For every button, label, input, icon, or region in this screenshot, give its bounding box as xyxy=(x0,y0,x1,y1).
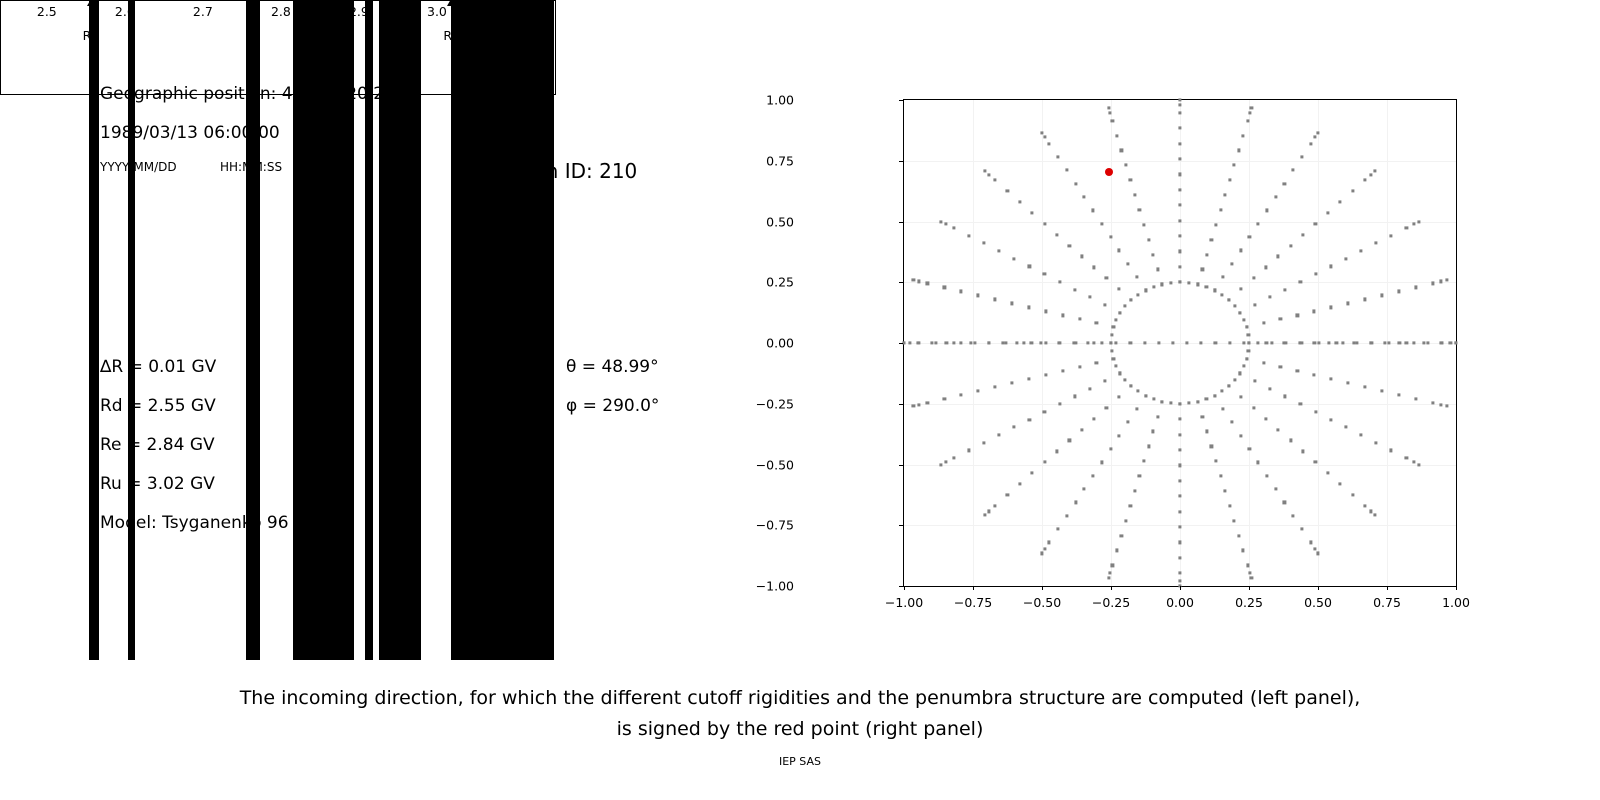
penumbra-tick-label: 2.6 xyxy=(115,4,135,19)
direction-point xyxy=(960,393,963,396)
direction-point xyxy=(1205,430,1208,433)
direction-point xyxy=(917,280,920,283)
direction-point xyxy=(1001,341,1004,344)
direction-point xyxy=(1222,407,1225,410)
direction-point xyxy=(1264,417,1267,420)
direction-point xyxy=(1178,98,1181,101)
direction-point xyxy=(967,234,970,237)
direction-point xyxy=(1055,233,1058,236)
direction-point xyxy=(1445,279,1448,282)
direction-point xyxy=(1178,142,1181,145)
direction-point xyxy=(1228,504,1231,507)
direction-point xyxy=(1414,397,1417,400)
direction-point xyxy=(952,341,955,344)
direction-point xyxy=(1363,298,1366,301)
direction-point xyxy=(1152,398,1155,401)
direction-point xyxy=(1344,426,1347,429)
direction-point xyxy=(997,433,1000,436)
direction-point xyxy=(1111,119,1114,122)
direction-point xyxy=(1327,341,1330,344)
y-tick-label: −0.25 xyxy=(756,396,794,411)
direction-point xyxy=(1205,398,1208,401)
direction-point xyxy=(1329,265,1332,268)
direction-point xyxy=(977,294,980,297)
direction-point xyxy=(1330,306,1333,309)
direction-point xyxy=(926,401,929,404)
y-tick-mark xyxy=(899,465,903,466)
parameter-line: Re = 2.84 GV xyxy=(100,435,215,455)
direction-point xyxy=(1126,421,1129,424)
direction-point xyxy=(1335,341,1338,344)
direction-point xyxy=(1178,204,1181,207)
direction-point xyxy=(1105,277,1108,280)
direction-point xyxy=(1135,407,1138,410)
direction-point xyxy=(912,279,915,282)
parameter-line: Rd = 2.55 GV xyxy=(100,396,216,416)
direction-point xyxy=(1210,238,1213,241)
direction-point xyxy=(1039,341,1042,344)
direction-point xyxy=(1126,262,1129,265)
direction-point xyxy=(1115,134,1118,137)
direction-point xyxy=(1405,457,1408,460)
direction-point xyxy=(1237,149,1240,152)
penumbra-tick-label: 2.8 xyxy=(271,4,291,19)
direction-point xyxy=(1107,107,1110,110)
direction-point xyxy=(1431,401,1434,404)
direction-point xyxy=(1010,302,1013,305)
direction-point xyxy=(1397,290,1400,293)
direction-point xyxy=(1185,341,1188,344)
caption-line-1: The incoming direction, for which the di… xyxy=(0,683,1600,714)
direction-point xyxy=(1058,341,1061,344)
direction-point xyxy=(1380,389,1383,392)
direction-point xyxy=(1030,341,1033,344)
direction-point xyxy=(1013,257,1016,260)
direction-point xyxy=(1220,390,1223,393)
direction-point xyxy=(1178,402,1181,405)
direction-point xyxy=(1103,303,1106,306)
direction-point xyxy=(1341,341,1344,344)
direction-point xyxy=(1124,304,1127,307)
direction-point xyxy=(1088,296,1091,299)
direction-point xyxy=(1292,514,1295,517)
direction-point xyxy=(1124,519,1127,522)
direction-point xyxy=(1283,501,1286,504)
direction-point xyxy=(1156,415,1159,418)
direction-point xyxy=(1301,233,1304,236)
direction-point xyxy=(917,403,920,406)
direction-point xyxy=(1268,296,1271,299)
direction-point xyxy=(1426,341,1429,344)
direction-point xyxy=(1413,460,1416,463)
direction-point xyxy=(1210,445,1213,448)
direction-point xyxy=(1237,534,1240,537)
direction-point xyxy=(1178,525,1181,528)
direction-point xyxy=(993,298,996,301)
direction-point xyxy=(1250,107,1253,110)
direction-point xyxy=(1043,548,1046,551)
direction-point xyxy=(1326,472,1329,475)
direction-point xyxy=(1105,406,1108,409)
direction-point xyxy=(1289,439,1292,442)
direction-point xyxy=(1454,341,1457,344)
angle-line: θ = 48.99° xyxy=(566,357,659,377)
x-tick-mark xyxy=(1042,586,1043,590)
direction-point xyxy=(934,341,937,344)
direction-point xyxy=(1065,169,1068,172)
x-tick-label: −0.25 xyxy=(1092,595,1130,610)
penumbra-tick-label: 2.5 xyxy=(37,4,57,19)
direction-point xyxy=(1292,169,1295,172)
penumbra-tick-label: 3.0 xyxy=(427,4,447,19)
direction-point xyxy=(1178,250,1181,253)
direction-point xyxy=(1253,379,1256,382)
x-tick-mark xyxy=(1249,586,1250,590)
direction-point xyxy=(1031,211,1034,214)
direction-point xyxy=(1074,501,1077,504)
direction-point xyxy=(1178,103,1181,106)
direction-point xyxy=(1242,341,1245,344)
direction-point xyxy=(1279,318,1282,321)
y-tick-label: −0.75 xyxy=(756,518,794,533)
direction-point xyxy=(1230,421,1233,424)
direction-point xyxy=(1245,357,1248,360)
x-tick-label: −0.50 xyxy=(1023,595,1061,610)
direction-point xyxy=(1178,157,1181,160)
direction-point xyxy=(1107,576,1110,579)
direction-point xyxy=(1111,564,1114,567)
direction-point xyxy=(1028,265,1031,268)
direction-point xyxy=(931,341,934,344)
direction-point xyxy=(1279,365,1282,368)
direction-point xyxy=(1178,111,1181,114)
direction-point xyxy=(1359,433,1362,436)
direction-point xyxy=(1129,504,1132,507)
direction-point xyxy=(1233,378,1236,381)
arrow-up-icon xyxy=(447,0,455,6)
direction-point xyxy=(1169,402,1172,405)
direction-point xyxy=(1289,244,1292,247)
direction-point xyxy=(1228,179,1231,182)
direction-point xyxy=(945,341,948,344)
direction-point xyxy=(1044,373,1047,376)
direction-point xyxy=(1277,255,1280,258)
direction-point xyxy=(1043,461,1046,464)
direction-point xyxy=(1161,400,1164,403)
direction-point xyxy=(1043,135,1046,138)
direction-point xyxy=(1326,211,1329,214)
direction-point xyxy=(1018,200,1021,203)
direction-point xyxy=(1027,306,1030,309)
marker-label: Re xyxy=(304,28,320,43)
direction-point xyxy=(1110,349,1113,352)
direction-point xyxy=(1299,403,1302,406)
direction-point xyxy=(1355,341,1358,344)
direction-point xyxy=(1056,527,1059,530)
direction-point xyxy=(1110,333,1113,336)
x-tick-mark xyxy=(904,586,905,590)
direction-point xyxy=(1061,369,1064,372)
direction-point xyxy=(1370,510,1373,513)
direction-point xyxy=(1330,377,1333,380)
x-tick-label: 0.00 xyxy=(1166,595,1194,610)
direction-point xyxy=(1247,349,1250,352)
direction-point xyxy=(1252,406,1255,409)
direction-point xyxy=(1151,430,1154,433)
direction-point xyxy=(1300,527,1303,530)
direction-point xyxy=(943,397,946,400)
direction-point xyxy=(1250,576,1253,579)
direction-point xyxy=(1178,127,1181,130)
direction-point xyxy=(1346,302,1349,305)
direction-point xyxy=(1317,341,1320,344)
direction-point xyxy=(1178,495,1181,498)
x-tick-label: 1.00 xyxy=(1442,595,1470,610)
direction-point xyxy=(1387,341,1390,344)
direction-point xyxy=(1397,393,1400,396)
direction-point xyxy=(1178,541,1181,544)
direction-point xyxy=(1101,341,1104,344)
direction-point xyxy=(1422,341,1425,344)
direction-point xyxy=(1247,341,1250,344)
direction-point xyxy=(977,389,980,392)
direction-point xyxy=(1262,322,1265,325)
direction-point xyxy=(1133,193,1136,196)
direction-point xyxy=(1129,341,1132,344)
y-tick-mark xyxy=(899,100,903,101)
direction-point xyxy=(1091,474,1094,477)
direction-point xyxy=(1301,450,1304,453)
direction-point xyxy=(1115,365,1118,368)
direction-point xyxy=(1445,404,1448,407)
direction-point xyxy=(1118,434,1121,437)
direction-point xyxy=(1120,149,1123,152)
forbidden-band xyxy=(379,0,421,95)
direction-point xyxy=(1092,417,1095,420)
direction-point xyxy=(1044,341,1047,344)
direction-point xyxy=(1124,164,1127,167)
direction-point xyxy=(1161,283,1164,286)
direction-point xyxy=(1228,341,1231,344)
x-tick-mark xyxy=(973,586,974,590)
direction-point xyxy=(1205,253,1208,256)
direction-point xyxy=(1129,179,1132,182)
y-tick-mark xyxy=(899,222,903,223)
direction-point xyxy=(1074,182,1077,185)
direction-point xyxy=(952,457,955,460)
direction-point xyxy=(1124,378,1127,381)
direction-point xyxy=(1213,289,1216,292)
direction-point xyxy=(1115,549,1118,552)
direction-point xyxy=(1363,179,1366,182)
direction-point xyxy=(1147,238,1150,241)
direction-point xyxy=(987,341,990,344)
direction-point xyxy=(1296,369,1299,372)
direction-point xyxy=(1016,341,1019,344)
direction-point xyxy=(1369,341,1372,344)
direction-point xyxy=(1112,326,1115,329)
y-tick-mark xyxy=(899,343,903,344)
direction-point xyxy=(1285,341,1288,344)
direction-point xyxy=(1178,580,1181,583)
right-panel: −1.00−0.75−0.50−0.250.000.250.500.751.00… xyxy=(800,0,1600,660)
direction-point xyxy=(1449,341,1452,344)
direction-point xyxy=(1314,410,1317,413)
direction-point xyxy=(1363,504,1366,507)
direction-point xyxy=(1178,234,1181,237)
x-tick-mark xyxy=(1180,586,1181,590)
direction-point xyxy=(1178,433,1181,436)
x-tick-label: −0.75 xyxy=(954,595,992,610)
left-panel: Geographic position: 49.2°N 20.22°E 1989… xyxy=(0,0,800,660)
parameter-line: ∆R = 0.01 GV xyxy=(100,357,216,377)
direction-point xyxy=(1214,341,1217,344)
direction-point xyxy=(1100,461,1103,464)
direction-point xyxy=(1227,298,1230,301)
direction-point xyxy=(1296,314,1299,317)
direction-point xyxy=(1095,322,1098,325)
direction-point xyxy=(1135,275,1138,278)
direction-point xyxy=(1242,549,1245,552)
direction-point xyxy=(1248,235,1251,238)
direction-point xyxy=(1284,395,1287,398)
direction-point xyxy=(1299,341,1302,344)
direction-point xyxy=(1265,209,1268,212)
x-tick-label: 0.25 xyxy=(1235,595,1263,610)
direction-point xyxy=(1058,280,1061,283)
x-tick-label: −1.00 xyxy=(885,595,923,610)
direction-point xyxy=(987,510,990,513)
direction-point xyxy=(1262,361,1265,364)
direction-point xyxy=(1247,333,1250,336)
direction-point xyxy=(982,242,985,245)
direction-point xyxy=(983,170,986,173)
direction-point xyxy=(1109,341,1112,344)
direction-point xyxy=(1412,341,1415,344)
direction-point xyxy=(1151,253,1154,256)
direction-point xyxy=(1440,280,1443,283)
direction-point xyxy=(1277,428,1280,431)
direction-point xyxy=(1043,410,1046,413)
direction-point xyxy=(1108,111,1111,114)
direction-point xyxy=(1031,472,1034,475)
direction-point xyxy=(944,222,947,225)
direction-point xyxy=(1222,275,1225,278)
direction-point xyxy=(1118,249,1121,252)
direction-point xyxy=(1080,428,1083,431)
direction-point xyxy=(1040,131,1043,134)
direction-point xyxy=(1178,281,1181,284)
direction-point xyxy=(1351,493,1354,496)
direction-point xyxy=(993,385,996,388)
direction-point xyxy=(1264,266,1267,269)
direction-point xyxy=(1133,489,1136,492)
direction-point xyxy=(1119,311,1122,314)
direction-point xyxy=(1417,463,1420,466)
direction-point xyxy=(1213,394,1216,397)
direction-point xyxy=(1112,357,1115,360)
direction-point xyxy=(1040,552,1043,555)
direction-point xyxy=(1178,448,1181,451)
footer-label: IEP SAS xyxy=(0,755,1600,768)
direction-point xyxy=(1080,255,1083,258)
direction-point xyxy=(1283,182,1286,185)
direction-point xyxy=(1130,298,1133,301)
direction-point xyxy=(994,179,997,182)
direction-point xyxy=(1245,326,1248,329)
direction-point xyxy=(1178,556,1181,559)
direction-point xyxy=(1086,341,1089,344)
penumbra-tick-label: 2.9 xyxy=(349,4,369,19)
direction-point xyxy=(1359,249,1362,252)
direction-point xyxy=(1201,415,1204,418)
direction-point xyxy=(1413,222,1416,225)
x-tick-mark xyxy=(1456,586,1457,590)
direction-point xyxy=(1339,200,1342,203)
direction-point xyxy=(1374,170,1377,173)
direction-point xyxy=(1200,341,1203,344)
direction-point xyxy=(994,504,997,507)
direction-point xyxy=(1246,119,1249,122)
direction-point xyxy=(1390,449,1393,452)
direction-point xyxy=(1078,365,1081,368)
direction-point xyxy=(1257,222,1260,225)
y-tick-label: 0.25 xyxy=(766,275,794,290)
direction-point xyxy=(939,220,942,223)
direction-point xyxy=(1242,365,1245,368)
date-format-hint: YYYY/MM/DD xyxy=(100,160,177,174)
direction-point xyxy=(1313,373,1316,376)
direction-point xyxy=(1142,223,1145,226)
direction-point xyxy=(912,404,915,407)
direction-point xyxy=(1314,222,1317,225)
marker-label: Ru xyxy=(443,28,459,43)
parameter-line: Model: Tsyganenko 96 xyxy=(100,513,289,533)
direction-point xyxy=(1265,341,1268,344)
direction-point xyxy=(1405,226,1408,229)
arrow-up-icon xyxy=(87,0,95,6)
direction-point xyxy=(1136,293,1139,296)
direction-point xyxy=(1414,286,1417,289)
direction-point xyxy=(1201,268,1204,271)
direction-point xyxy=(1006,493,1009,496)
direction-point xyxy=(1314,461,1317,464)
direction-point xyxy=(997,249,1000,252)
direction-point xyxy=(939,463,942,466)
direction-point xyxy=(1214,223,1217,226)
direction-point xyxy=(1230,262,1233,265)
direction-point xyxy=(960,290,963,293)
direction-point xyxy=(1375,242,1378,245)
direction-point xyxy=(1316,552,1319,555)
direction-point xyxy=(1028,418,1031,421)
direction-point xyxy=(1242,134,1245,137)
direction-point xyxy=(1344,257,1347,260)
direction-point xyxy=(1390,234,1393,237)
direction-point xyxy=(1329,418,1332,421)
y-tick-mark xyxy=(899,586,903,587)
direction-point xyxy=(1316,131,1319,134)
direction-point xyxy=(1109,235,1112,238)
caption-line-2: is signed by the red point (right panel) xyxy=(0,714,1600,745)
direction-point xyxy=(1248,447,1251,450)
direction-point xyxy=(1313,341,1316,344)
direction-point xyxy=(983,513,986,516)
direction-point xyxy=(1274,195,1277,198)
direction-point xyxy=(908,341,911,344)
direction-point xyxy=(1143,341,1146,344)
direction-point xyxy=(1309,541,1312,544)
